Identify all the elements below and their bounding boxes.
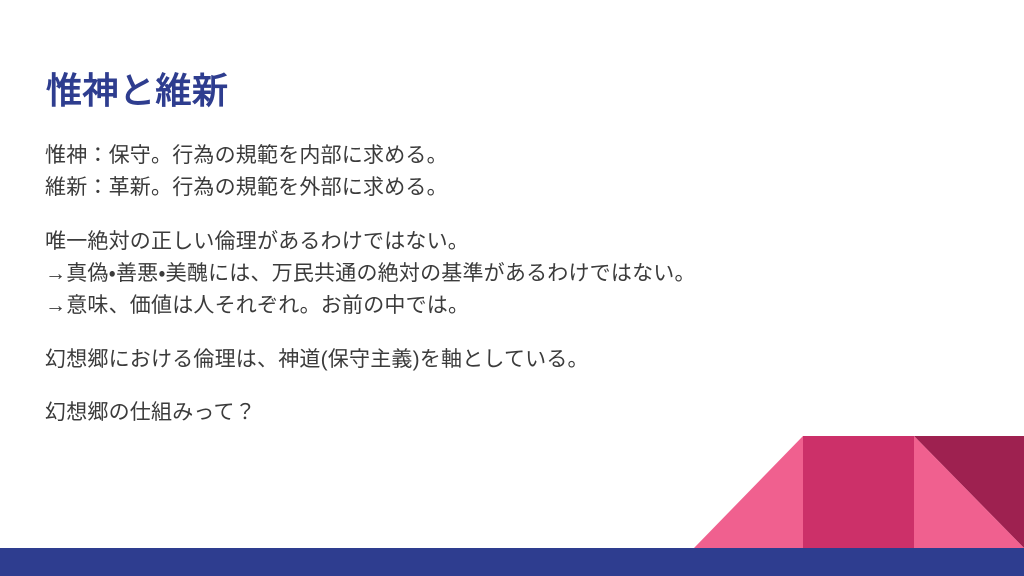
- page-title: 惟神と維新: [46, 68, 946, 113]
- paragraph-definitions: 惟神：保守。行為の規範を内部に求める。 維新：革新。行為の規範を外部に求める。: [45, 140, 945, 204]
- body-line: 幻想郷における倫理は、神道(保守主義)を軸としている。: [45, 344, 945, 376]
- paragraph-gensokyo-ethics: 幻想郷における倫理は、神道(保守主義)を軸としている。: [45, 344, 945, 376]
- corner-decoration: [680, 420, 1024, 548]
- body-line: →真偽・善悪・美醜には、万民共通の絶対の基準があるわけではない。: [45, 258, 945, 290]
- body-line: 惟神：保守。行為の規範を内部に求める。: [45, 140, 945, 172]
- slide: 惟神と維新 惟神：保守。行為の規範を内部に求める。 維新：革新。行為の規範を外部…: [0, 0, 1024, 576]
- body-line: 維新：革新。行為の規範を外部に求める。: [45, 172, 945, 204]
- body-line: →意味、価値は人それぞれ。お前の中では。: [45, 290, 945, 322]
- slide-body: 惟神：保守。行為の規範を内部に求める。 維新：革新。行為の規範を外部に求める。 …: [45, 140, 945, 429]
- body-line: 唯一絶対の正しい倫理があるわけではない。: [45, 226, 945, 258]
- paragraph-ethics: 唯一絶対の正しい倫理があるわけではない。 →真偽・善悪・美醜には、万民共通の絶対…: [45, 226, 945, 322]
- dark-pink-rectangle-shape: [803, 436, 914, 548]
- bottom-accent-bar: [0, 548, 1024, 576]
